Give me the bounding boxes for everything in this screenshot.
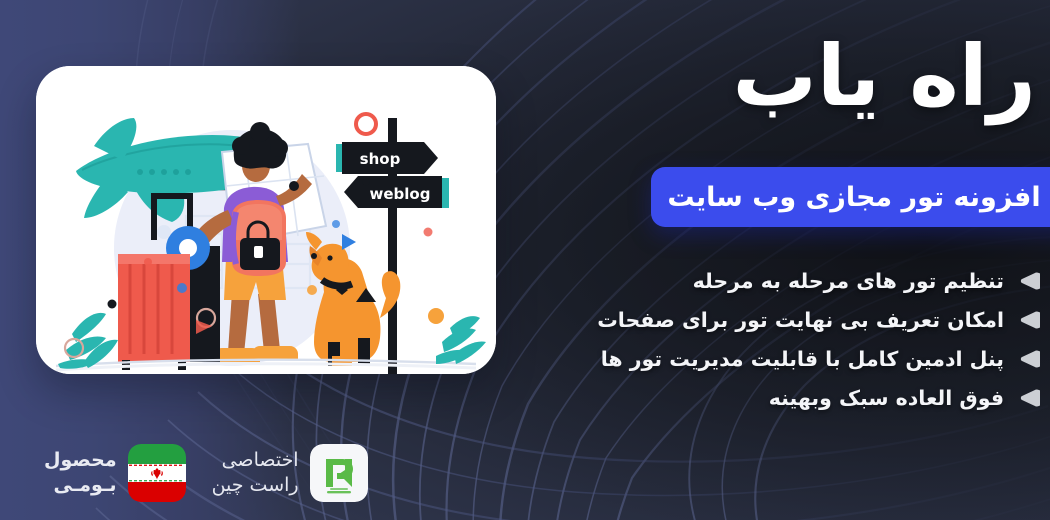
feature-list: تنظیم تور های مرحله به مرحله امکان تعریف… <box>480 268 1040 411</box>
rastchin-caption-line1: اختصاصی <box>212 448 299 473</box>
svg-text:weblog: weblog <box>370 185 431 203</box>
subtitle-text: افزونه تور مجازی وب سایت <box>667 182 1050 213</box>
iran-made-badge: محصول بـومـی <box>44 444 186 502</box>
rastchin-caption-line2: راست چین <box>212 473 299 498</box>
list-item: امکان تعریف بی نهایت تور برای صفحات <box>597 307 1040 333</box>
iran-made-line1: محصول <box>44 448 117 473</box>
subtitle-badge: افزونه تور مجازی وب سایت <box>651 167 1050 227</box>
bottom-badges: اختصاصی راست چین <box>44 444 368 502</box>
list-item: پنل ادمین کامل با قابلیت مدیریت تور ها <box>601 346 1040 372</box>
illustration-card: shop weblog <box>36 66 496 374</box>
svg-text:shop: shop <box>360 150 401 168</box>
feature-label: فوق العاده سبک وبهینه <box>769 386 1004 410</box>
feature-label: پنل ادمین کامل با قابلیت مدیریت تور ها <box>601 347 1004 371</box>
rastchin-caption: اختصاصی راست چین <box>212 448 299 498</box>
list-item: فوق العاده سبک وبهینه <box>769 385 1040 411</box>
triangle-left-icon <box>1014 346 1040 372</box>
iran-made-caption: محصول بـومـی <box>44 448 117 498</box>
iran-made-line2: بـومـی <box>44 473 117 498</box>
list-item: تنظیم تور های مرحله به مرحله <box>693 268 1040 294</box>
rastchin-logo-icon <box>310 444 368 502</box>
banner-stage: shop weblog <box>0 0 1050 520</box>
triangle-left-icon <box>1014 385 1040 411</box>
triangle-left-icon <box>1014 307 1040 333</box>
iran-flag-icon <box>128 444 186 502</box>
rastchin-badge: اختصاصی راست چین <box>212 444 368 502</box>
feature-label: تنظیم تور های مرحله به مرحله <box>693 269 1004 293</box>
triangle-left-icon <box>1014 268 1040 294</box>
feature-label: امکان تعریف بی نهایت تور برای صفحات <box>597 308 1004 332</box>
page-title: راه یاب <box>616 34 1036 120</box>
